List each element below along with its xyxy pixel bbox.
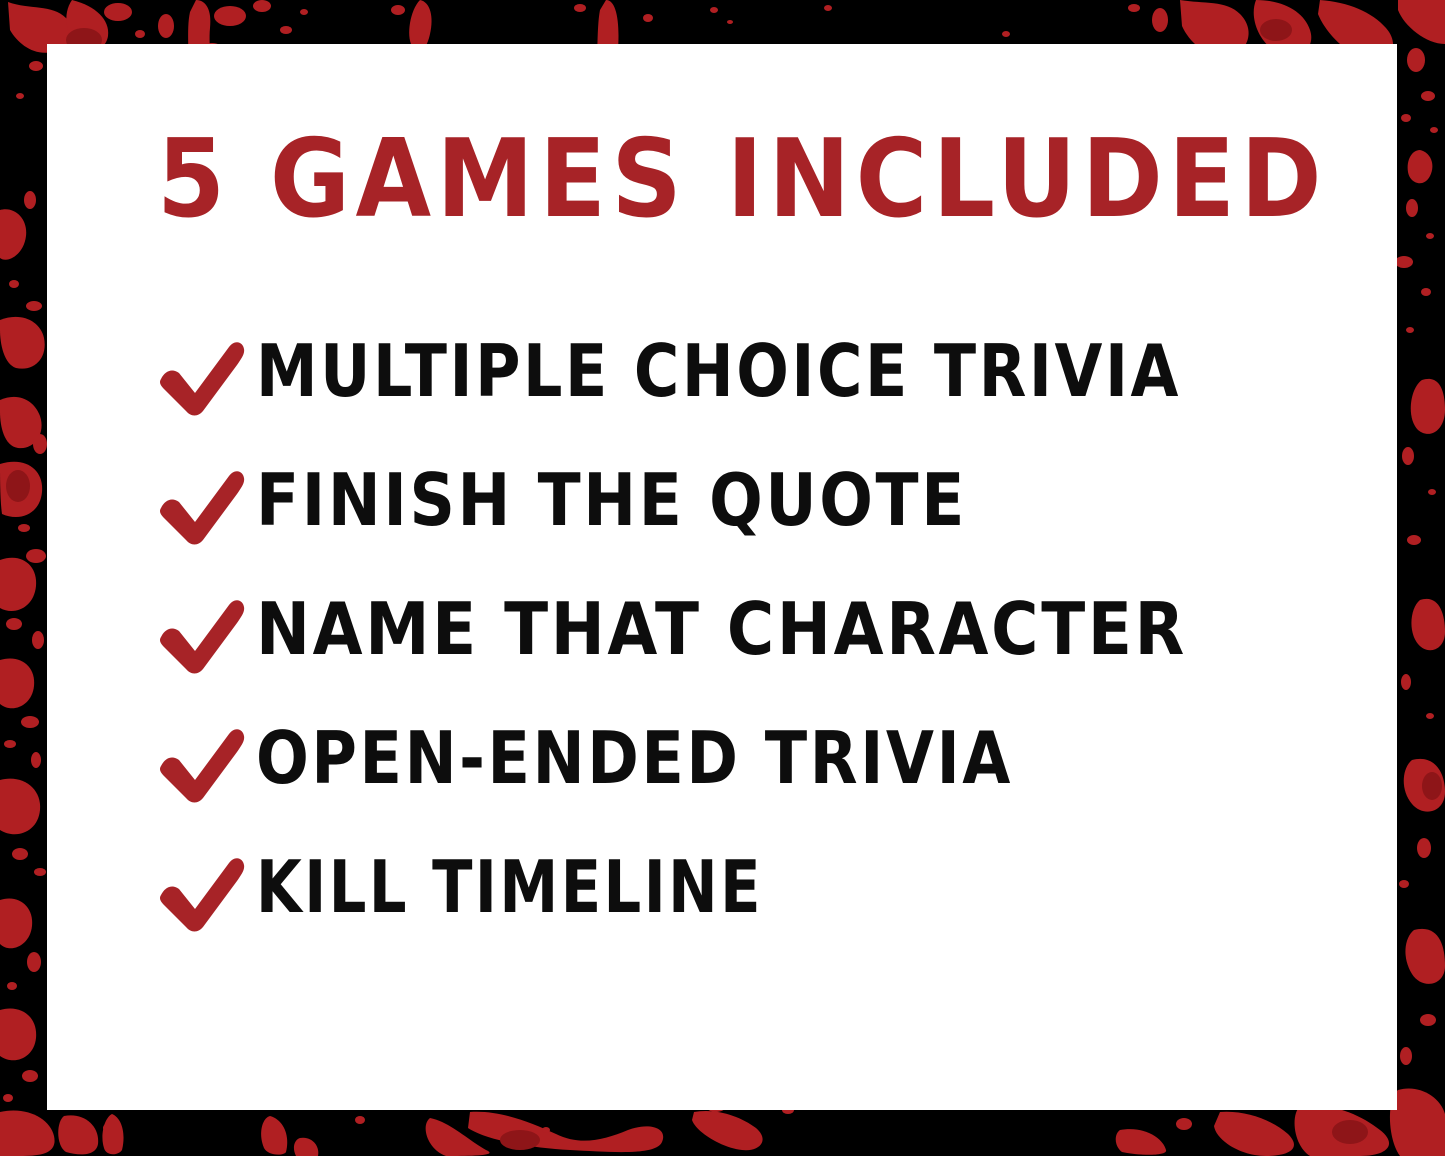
list-item[interactable]: OPEN-ENDED TRIVIA (47, 699, 1397, 828)
check-mark-icon (155, 853, 250, 933)
list-item[interactable]: NAME THAT CHARACTER (47, 570, 1397, 699)
list-item-label-artwork: KILL TIMELINE (256, 848, 768, 938)
content-card: 5 GAMES INCLUDED MULTIPLE CHOICE TRIVIA (47, 44, 1397, 1110)
list-item-label-wrap: OPEN-ENDED TRIVIA (256, 719, 1018, 809)
check-mark-icon (155, 466, 250, 546)
horror-trivia-poster: 5 GAMES INCLUDED MULTIPLE CHOICE TRIVIA (0, 0, 1445, 1156)
list-item-label: NAME THAT CHARACTER (256, 587, 1187, 671)
list-item[interactable]: FINISH THE QUOTE (47, 441, 1397, 570)
games-checklist: MULTIPLE CHOICE TRIVIA FINISH THE QUOTE (47, 312, 1397, 957)
list-item-label: OPEN-ENDED TRIVIA (256, 716, 1013, 800)
list-item-label: MULTIPLE CHOICE TRIVIA (256, 329, 1181, 413)
check-mark-icon (155, 595, 250, 675)
list-item-label-wrap: NAME THAT CHARACTER (256, 590, 1192, 680)
page-title-text: 5 GAMES INCLUDED (157, 117, 1327, 242)
list-item-label: FINISH THE QUOTE (256, 458, 967, 542)
list-item-label-artwork: NAME THAT CHARACTER (256, 590, 1192, 680)
list-item-label-wrap: KILL TIMELINE (256, 848, 768, 938)
check-mark-icon (155, 337, 250, 417)
list-item[interactable]: KILL TIMELINE (47, 828, 1397, 957)
list-item-label-artwork: OPEN-ENDED TRIVIA (256, 719, 1018, 809)
list-item-label-artwork: MULTIPLE CHOICE TRIVIA (256, 332, 1186, 422)
check-mark-icon (155, 724, 250, 804)
list-item[interactable]: MULTIPLE CHOICE TRIVIA (47, 312, 1397, 441)
list-item-label-artwork: FINISH THE QUOTE (256, 461, 972, 551)
list-item-label-wrap: MULTIPLE CHOICE TRIVIA (256, 332, 1186, 422)
list-item-label: KILL TIMELINE (256, 845, 763, 929)
list-item-label-wrap: FINISH THE QUOTE (256, 461, 972, 551)
page-title-artwork: 5 GAMES INCLUDED (152, 104, 1332, 254)
page-title: 5 GAMES INCLUDED (152, 104, 1332, 254)
